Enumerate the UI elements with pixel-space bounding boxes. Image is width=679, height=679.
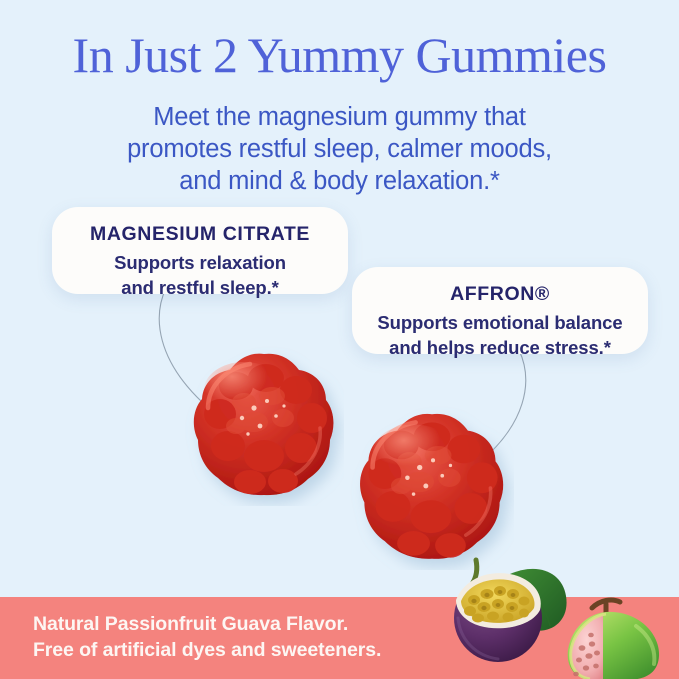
- page-title: In Just 2 Yummy Gummies: [0, 26, 679, 84]
- callout-desc-line-1: Supports emotional balance: [370, 310, 630, 335]
- callout-title: MAGNESIUM CITRATE: [70, 221, 330, 247]
- gummy-left: [184, 346, 344, 506]
- subtitle-line-2: promotes restful sleep, calmer moods,: [0, 133, 679, 165]
- page-subtitle: Meet the magnesium gummy that promotes r…: [0, 101, 679, 197]
- subtitle-line-1: Meet the magnesium gummy that: [0, 101, 679, 133]
- callout-desc-line-2: and helps reduce stress.*: [370, 335, 630, 360]
- callout-title: AFFRON®: [370, 281, 630, 307]
- fruit-illustration: [440, 556, 679, 679]
- banner-line-1: Natural Passionfruit Guava Flavor.: [33, 611, 381, 637]
- gummy-right: [350, 406, 514, 570]
- flavor-banner-text: Natural Passionfruit Guava Flavor. Free …: [33, 611, 381, 663]
- subtitle-line-3: and mind & body relaxation.*: [0, 165, 679, 197]
- banner-line-2: Free of artificial dyes and sweeteners.: [33, 637, 381, 663]
- product-infographic: In Just 2 Yummy Gummies Meet the magnesi…: [0, 0, 679, 679]
- callout-card-affron: AFFRON® Supports emotional balance and h…: [352, 267, 648, 354]
- callout-card-magnesium-citrate: MAGNESIUM CITRATE Supports relaxation an…: [52, 207, 348, 294]
- callout-desc-line-2: and restful sleep.*: [70, 275, 330, 300]
- callout-desc-line-1: Supports relaxation: [70, 250, 330, 275]
